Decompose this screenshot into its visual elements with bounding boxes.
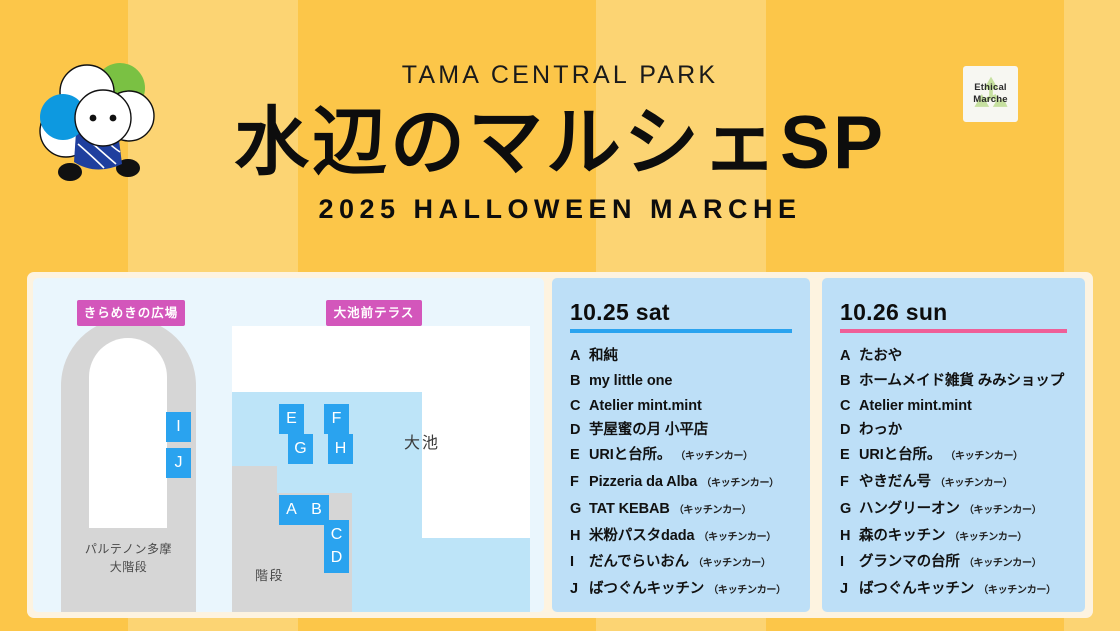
vendor-name: たおや (859, 344, 902, 369)
mascot-logo-icon (32, 56, 160, 184)
vendor-letter: G (840, 497, 859, 522)
booth-marker-a: A (279, 495, 304, 525)
day-rule-sunday (840, 329, 1067, 333)
vendor-note: （キッチンカー） (698, 526, 776, 551)
vendor-letter: A (570, 344, 589, 369)
vendor-row: A和純 (570, 344, 792, 369)
vendor-letter: B (570, 369, 589, 394)
vendor-name: 米粉パスタdada (589, 524, 694, 549)
vendor-row: Dわっか (840, 418, 1067, 443)
vendor-letter: I (840, 550, 859, 575)
vendor-note: （キッチンカー） (964, 499, 1042, 524)
vendor-name: ホームメイド雑貨 みみショップ (859, 369, 1064, 394)
vendor-row: H米粉パスタdada（キッチンカー） (570, 524, 792, 551)
main-title: 水辺のマルシェSP (190, 96, 930, 188)
vendor-letter: H (570, 524, 589, 549)
day-title-sunday: 10.26 sun (840, 298, 1067, 326)
vendor-note: （キッチンカー） (935, 472, 1013, 497)
vendor-letter: D (570, 418, 589, 443)
vendor-name: TAT KEBAB (589, 497, 670, 522)
vendor-name: Pizzeria da Alba (589, 470, 697, 495)
vendor-row: EURIと台所。（キッチンカー） (570, 443, 792, 470)
vendor-name: わっか (859, 418, 902, 443)
vendor-row: Bホームメイド雑貨 みみショップ (840, 369, 1067, 394)
vendor-list-saturday: A和純Bmy little oneCAtelier mint.mintD芋屋蜜の… (570, 344, 792, 604)
vendor-row: D芋屋蜜の月 小平店 (570, 418, 792, 443)
vendor-letter: E (840, 443, 859, 468)
vendor-row: Jばつぐんキッチン（キッチンカー） (840, 577, 1067, 604)
ethical-marche-badge: Ethical Marche (963, 66, 1018, 122)
parthenon-label-line2: 大階段 (110, 560, 148, 574)
vendor-row: Iだんでらいおん（キッチンカー） (570, 550, 792, 577)
day-title-saturday: 10.25 sat (570, 298, 792, 326)
area-tag-terrace: 大池前テラス (326, 300, 422, 326)
vendor-note: （キッチンカー） (708, 579, 786, 604)
vendor-letter: E (570, 443, 589, 468)
vendor-name: やきだん号 (859, 470, 931, 495)
vendor-name: グランマの台所 (859, 550, 960, 575)
vendor-letter: B (840, 369, 859, 394)
vendor-note: （キッチンカー） (701, 472, 779, 497)
vendor-row: F Pizzeria da Alba（キッチンカー） (570, 470, 792, 497)
vendor-row: Fやきだん号（キッチンカー） (840, 470, 1067, 497)
poster-header: TAMA CENTRAL PARK 水辺のマルシェSP 2025 HALLOWE… (0, 0, 1120, 270)
vendor-note: （キッチンカー） (674, 499, 752, 524)
vendor-name: ばつぐんキッチン (859, 577, 974, 602)
parthenon-arch-inner (89, 338, 167, 528)
booth-marker-g: G (288, 434, 313, 464)
vendor-name: Atelier mint.mint (859, 394, 972, 419)
terrace-water-right (422, 538, 530, 612)
vendor-row: Aたおや (840, 344, 1067, 369)
vendor-list-sunday: AたおやBホームメイド雑貨 みみショップCAtelier mint.mintDわ… (840, 344, 1067, 604)
day-panel-saturday: 10.25 sat A和純Bmy little oneCAtelier mint… (552, 278, 810, 612)
vendor-note: （キッチンカー） (693, 552, 771, 577)
booth-marker-f: F (324, 404, 349, 434)
title-block: TAMA CENTRAL PARK 水辺のマルシェSP 2025 HALLOWE… (190, 58, 930, 226)
sub-title: 2025 HALLOWEEN MARCHE (190, 192, 930, 226)
booth-marker-j: J (166, 448, 191, 478)
vendor-note: （キッチンカー） (949, 526, 1027, 551)
pond-label: 大池 (404, 429, 440, 453)
vendor-note: （キッチンカー） (675, 445, 753, 470)
vendor-row: Bmy little one (570, 369, 792, 394)
day-panel-sunday: 10.26 sun AたおやBホームメイド雑貨 みみショップCAtelier m… (822, 278, 1085, 612)
vendor-row: Jばつぐんキッチン（キッチンカー） (570, 577, 792, 604)
vendor-note: （キッチンカー） (945, 445, 1023, 470)
booth-marker-d: D (324, 543, 349, 573)
ethical-badge-text: Ethical Marche (973, 82, 1007, 106)
vendor-letter: C (570, 394, 589, 419)
vendor-row: EURIと台所。（キッチンカー） (840, 443, 1067, 470)
vendor-row: CAtelier mint.mint (570, 394, 792, 419)
vendor-note: （キッチンカー） (978, 579, 1056, 604)
vendor-letter: H (840, 524, 859, 549)
vendor-letter: D (840, 418, 859, 443)
stairs-label: 階段 (255, 565, 284, 584)
vendor-letter: J (570, 577, 589, 602)
parthenon-label: パルテノン多摩 大階段 (61, 540, 196, 576)
vendor-row: Gハングリーオン（キッチンカー） (840, 497, 1067, 524)
vendor-letter: F (840, 470, 859, 495)
vendor-letter: I (570, 550, 589, 575)
vendor-row: H森のキッチン（キッチンカー） (840, 524, 1067, 551)
vendor-name: 芋屋蜜の月 小平店 (589, 418, 708, 443)
vendor-name: Atelier mint.mint (589, 394, 702, 419)
vendor-note: （キッチンカー） (964, 552, 1042, 577)
badge-line-2: Marche (973, 94, 1007, 105)
poster-root: TAMA CENTRAL PARK 水辺のマルシェSP 2025 HALLOWE… (0, 0, 1120, 631)
vendor-name: 和純 (589, 344, 618, 369)
vendor-name: だんでらいおん (589, 550, 689, 575)
vendor-name: ばつぐんキッチン (589, 577, 704, 602)
booth-marker-e: E (279, 404, 304, 434)
parthenon-label-line1: パルテノン多摩 (85, 542, 172, 556)
badge-line-1: Ethical (974, 82, 1007, 93)
vendor-letter: C (840, 394, 859, 419)
vendor-row: GTAT KEBAB（キッチンカー） (570, 497, 792, 524)
vendor-letter: J (840, 577, 859, 602)
vendor-name: ハングリーオン (859, 497, 960, 522)
vendor-row: Iグランマの台所（キッチンカー） (840, 550, 1067, 577)
vendor-letter: A (840, 344, 859, 369)
vendor-name: my little one (589, 369, 672, 394)
vendor-letter: G (570, 497, 589, 522)
booth-marker-i: I (166, 412, 191, 442)
day-rule-saturday (570, 329, 792, 333)
vendor-row: CAtelier mint.mint (840, 394, 1067, 419)
booth-marker-h: H (328, 434, 353, 464)
area-tag-kirameki: きらめきの広場 (77, 300, 185, 326)
vendor-name: URIと台所。 (589, 443, 671, 468)
vendor-letter: F (570, 470, 589, 495)
vendor-name: URIと台所。 (859, 443, 941, 468)
park-name: TAMA CENTRAL PARK (190, 58, 930, 92)
vendor-name: 森のキッチン (859, 524, 945, 549)
